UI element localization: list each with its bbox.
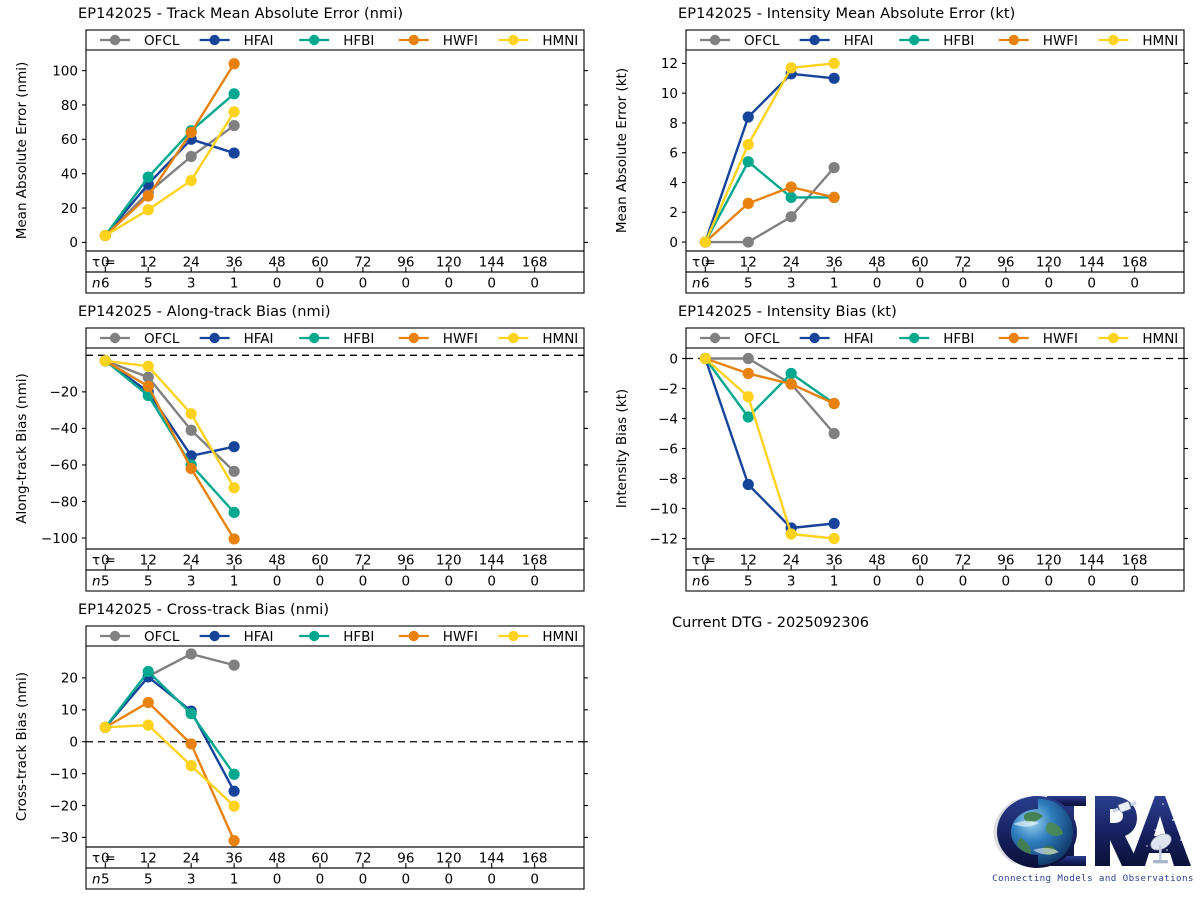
legend-label: HFBI — [343, 629, 374, 645]
y-tick-label: 0 — [669, 235, 678, 251]
n-count-value: 0 — [1002, 574, 1011, 590]
n-count-value: 0 — [444, 574, 453, 590]
data-point — [786, 378, 797, 389]
y-tick-label: −4 — [658, 411, 678, 427]
cira-logo-graphic: Connecting Models and Observations — [995, 788, 1191, 888]
n-count-value: 0 — [916, 574, 925, 590]
y-axis-label: Mean Absolute Error (kt) — [614, 68, 630, 233]
data-point — [143, 381, 154, 392]
y-tick-label: 60 — [61, 132, 78, 148]
n-count-value: 0 — [959, 574, 968, 590]
data-point — [143, 666, 154, 677]
n-count-value: 0 — [444, 872, 453, 888]
y-tick-label: −6 — [658, 441, 678, 457]
legend-label: HMNI — [542, 629, 578, 645]
y-tick-label: −20 — [50, 385, 79, 401]
n-count-value: 0 — [487, 872, 496, 888]
data-point — [786, 211, 797, 222]
y-axis-label: Cross-track Bias (nmi) — [14, 672, 30, 821]
chart-plot: OFCLHFAIHFBIHWFIHMNI20100−10−20−30Cross-… — [0, 596, 620, 896]
n-count-value: 3 — [187, 276, 196, 292]
data-point — [229, 533, 240, 544]
legend-label: OFCL — [744, 331, 780, 347]
n-count-value: 1 — [830, 276, 839, 292]
n-count-value: 0 — [273, 574, 282, 590]
y-tick-label: −30 — [50, 830, 79, 846]
y-tick-label: 8 — [669, 116, 678, 132]
n-row-label: n — [92, 276, 101, 292]
data-point — [229, 147, 240, 158]
y-tick-label: 20 — [61, 201, 78, 217]
y-tick-label: −20 — [50, 798, 79, 814]
panel-along-track-bias: EP142025 - Along-track Bias (nmi)OFCLHFA… — [0, 298, 620, 598]
y-tick-label: −80 — [50, 494, 79, 510]
data-point — [100, 722, 111, 733]
chart-title: EP142025 - Track Mean Absolute Error (nm… — [78, 6, 403, 22]
legend-label: HMNI — [1142, 331, 1178, 347]
data-point — [829, 518, 840, 529]
data-point — [143, 361, 154, 372]
n-count-value: 1 — [230, 276, 239, 292]
y-tick-label: 10 — [61, 703, 78, 719]
n-count-value: 0 — [402, 872, 411, 888]
legend-label: HMNI — [542, 331, 578, 347]
n-count-value: 0 — [316, 872, 325, 888]
data-point — [229, 120, 240, 131]
chart-plot: OFCLHFAIHFBIHWFIHMNI024681012Mean Absolu… — [600, 0, 1200, 300]
legend-label: HFBI — [943, 33, 974, 49]
n-count-value: 3 — [787, 574, 796, 590]
y-tick-label: −12 — [650, 531, 679, 547]
n-count-value: 3 — [187, 574, 196, 590]
n-count-value: 0 — [487, 574, 496, 590]
y-tick-label: −8 — [658, 471, 678, 487]
n-count-value: 0 — [1130, 574, 1139, 590]
data-point — [829, 192, 840, 203]
data-point — [143, 172, 154, 183]
n-count-value: 0 — [359, 276, 368, 292]
chart-title: EP142025 - Intensity Bias (kt) — [678, 304, 897, 320]
figure-root: EP142025 - Track Mean Absolute Error (nm… — [0, 0, 1200, 900]
data-point — [100, 355, 111, 366]
panel-intensity-bias: EP142025 - Intensity Bias (kt)OFCLHFAIHF… — [600, 298, 1200, 598]
y-tick-label: 80 — [61, 98, 78, 114]
panel-cross-track-bias: EP142025 - Cross-track Bias (nmi)OFCLHFA… — [0, 596, 620, 896]
n-count-value: 0 — [273, 872, 282, 888]
n-count-value: 0 — [530, 276, 539, 292]
data-point — [229, 441, 240, 452]
legend-label: HFAI — [244, 331, 274, 347]
data-point — [229, 106, 240, 117]
legend-label: HFAI — [844, 331, 874, 347]
data-point — [743, 236, 754, 247]
data-point — [143, 204, 154, 215]
n-count-value: 0 — [1044, 276, 1053, 292]
y-axis-label: Along-track Bias (nmi) — [14, 373, 30, 524]
n-count-value: 0 — [273, 276, 282, 292]
y-tick-label: 6 — [669, 146, 678, 162]
y-tick-label: 10 — [661, 86, 678, 102]
data-point — [700, 236, 711, 247]
n-count-value: 5 — [144, 276, 153, 292]
y-axis-label: Intensity Bias (kt) — [614, 389, 630, 508]
legend-label: HWFI — [443, 331, 478, 347]
legend-label: HMNI — [542, 33, 578, 49]
data-point — [229, 482, 240, 493]
y-tick-label: 0 — [69, 235, 78, 251]
cira-logo: Connecting Models and Observations — [995, 788, 1191, 888]
chart-plot: OFCLHFAIHFBIHWFIHMNI−20−40−60−80−100Alon… — [0, 298, 620, 598]
data-point — [700, 353, 711, 364]
n-count-value: 0 — [873, 574, 882, 590]
legend-label: HFBI — [343, 33, 374, 49]
data-point — [786, 181, 797, 192]
panel-track-mae: EP142025 - Track Mean Absolute Error (nm… — [0, 0, 620, 300]
data-point — [186, 425, 197, 436]
legend-label: HFBI — [343, 331, 374, 347]
data-point — [743, 111, 754, 122]
y-tick-label: 0 — [69, 735, 78, 751]
n-row-label: n — [92, 872, 101, 888]
legend-label: HFAI — [244, 33, 274, 49]
data-point — [186, 175, 197, 186]
n-count-value: 5 — [744, 574, 753, 590]
data-point — [186, 760, 197, 771]
n-count-value: 0 — [916, 276, 925, 292]
n-count-value: 0 — [959, 276, 968, 292]
data-point — [143, 697, 154, 708]
n-count-value: 0 — [530, 574, 539, 590]
data-point — [186, 127, 197, 138]
n-count-value: 0 — [359, 872, 368, 888]
data-point — [100, 230, 111, 241]
data-point — [229, 835, 240, 846]
n-count-value: 0 — [530, 872, 539, 888]
data-point — [229, 786, 240, 797]
n-count-value: 0 — [402, 574, 411, 590]
data-point — [186, 463, 197, 474]
n-count-value: 0 — [402, 276, 411, 292]
n-count-value: 0 — [487, 276, 496, 292]
data-point — [829, 398, 840, 409]
n-count-value: 6 — [701, 276, 710, 292]
n-count-value: 0 — [444, 276, 453, 292]
data-point — [829, 533, 840, 544]
data-point — [229, 88, 240, 99]
data-point — [743, 353, 754, 364]
data-point — [786, 368, 797, 379]
chart-title: EP142025 - Along-track Bias (nmi) — [78, 304, 331, 320]
data-point — [143, 720, 154, 731]
data-point — [786, 62, 797, 73]
legend-label: HFAI — [844, 33, 874, 49]
y-tick-label: 4 — [669, 175, 678, 191]
cira-logo-tagline: Connecting Models and Observations — [992, 873, 1194, 884]
y-tick-label: −40 — [50, 421, 79, 437]
n-count-value: 0 — [873, 276, 882, 292]
y-tick-label: 20 — [61, 671, 78, 687]
n-count-value: 5 — [744, 276, 753, 292]
n-count-value: 0 — [1087, 574, 1096, 590]
chart-plot: OFCLHFAIHFBIHWFIHMNI0−2−4−6−8−10−12Inten… — [600, 298, 1200, 598]
n-count-value: 5 — [144, 574, 153, 590]
n-count-value: 5 — [144, 872, 153, 888]
n-count-value: 0 — [1044, 574, 1053, 590]
chart-title: EP142025 - Intensity Mean Absolute Error… — [678, 6, 1015, 22]
chart-title: EP142025 - Cross-track Bias (nmi) — [78, 602, 329, 618]
data-point — [229, 801, 240, 812]
data-point — [829, 162, 840, 173]
y-tick-label: 12 — [661, 56, 678, 72]
y-tick-label: −60 — [50, 458, 79, 474]
data-point — [186, 151, 197, 162]
n-row-label: n — [92, 574, 101, 590]
legend-label: OFCL — [144, 629, 180, 645]
y-tick-label: 2 — [669, 205, 678, 221]
n-row-label: n — [692, 574, 701, 590]
data-point — [829, 73, 840, 84]
data-point — [143, 190, 154, 201]
data-point — [743, 198, 754, 209]
legend-label: HWFI — [1043, 331, 1078, 347]
n-row-label: n — [692, 276, 701, 292]
y-tick-label: −2 — [658, 381, 678, 397]
data-point — [186, 408, 197, 419]
n-count-value: 3 — [787, 276, 796, 292]
legend-label: HFAI — [244, 629, 274, 645]
n-count-value: 1 — [230, 574, 239, 590]
y-tick-label: −10 — [650, 501, 679, 517]
y-tick-label: −100 — [41, 531, 78, 547]
n-count-value: 5 — [101, 574, 110, 590]
data-point — [743, 391, 754, 402]
legend-label: OFCL — [144, 33, 180, 49]
n-count-value: 0 — [316, 574, 325, 590]
data-point — [743, 479, 754, 490]
legend-label: OFCL — [744, 33, 780, 49]
data-point — [229, 507, 240, 518]
data-point — [829, 58, 840, 69]
data-point — [743, 368, 754, 379]
data-point — [829, 428, 840, 439]
n-count-value: 5 — [101, 872, 110, 888]
data-point — [229, 58, 240, 69]
y-tick-label: 40 — [61, 166, 78, 182]
data-point — [186, 648, 197, 659]
data-point — [743, 139, 754, 150]
legend-label: HMNI — [1142, 33, 1178, 49]
data-point — [229, 769, 240, 780]
data-point — [229, 660, 240, 671]
data-point — [229, 466, 240, 477]
current-dtg-label: Current DTG - 2025092306 — [672, 615, 869, 631]
panel-intensity-mae: EP142025 - Intensity Mean Absolute Error… — [600, 0, 1200, 300]
data-point — [786, 192, 797, 203]
n-count-value: 3 — [187, 872, 196, 888]
n-count-value: 0 — [1130, 276, 1139, 292]
y-tick-label: 0 — [669, 351, 678, 367]
data-point — [743, 156, 754, 167]
legend-label: HFBI — [943, 331, 974, 347]
n-count-value: 1 — [830, 574, 839, 590]
data-point — [786, 528, 797, 539]
legend-label: HWFI — [1043, 33, 1078, 49]
legend-label: HWFI — [443, 33, 478, 49]
legend-label: OFCL — [144, 331, 180, 347]
legend-label: HWFI — [443, 629, 478, 645]
y-tick-label: 100 — [52, 63, 78, 79]
n-count-value: 0 — [1002, 276, 1011, 292]
n-count-value: 6 — [101, 276, 110, 292]
n-count-value: 6 — [701, 574, 710, 590]
n-count-value: 1 — [230, 872, 239, 888]
n-count-value: 0 — [316, 276, 325, 292]
y-tick-label: −10 — [50, 766, 79, 782]
n-count-value: 0 — [359, 574, 368, 590]
n-count-value: 0 — [1087, 276, 1096, 292]
y-axis-label: Mean Absolute Error (nmi) — [14, 62, 30, 240]
data-point — [186, 708, 197, 719]
chart-plot: OFCLHFAIHFBIHWFIHMNI020406080100Mean Abs… — [0, 0, 620, 300]
data-point — [186, 738, 197, 749]
